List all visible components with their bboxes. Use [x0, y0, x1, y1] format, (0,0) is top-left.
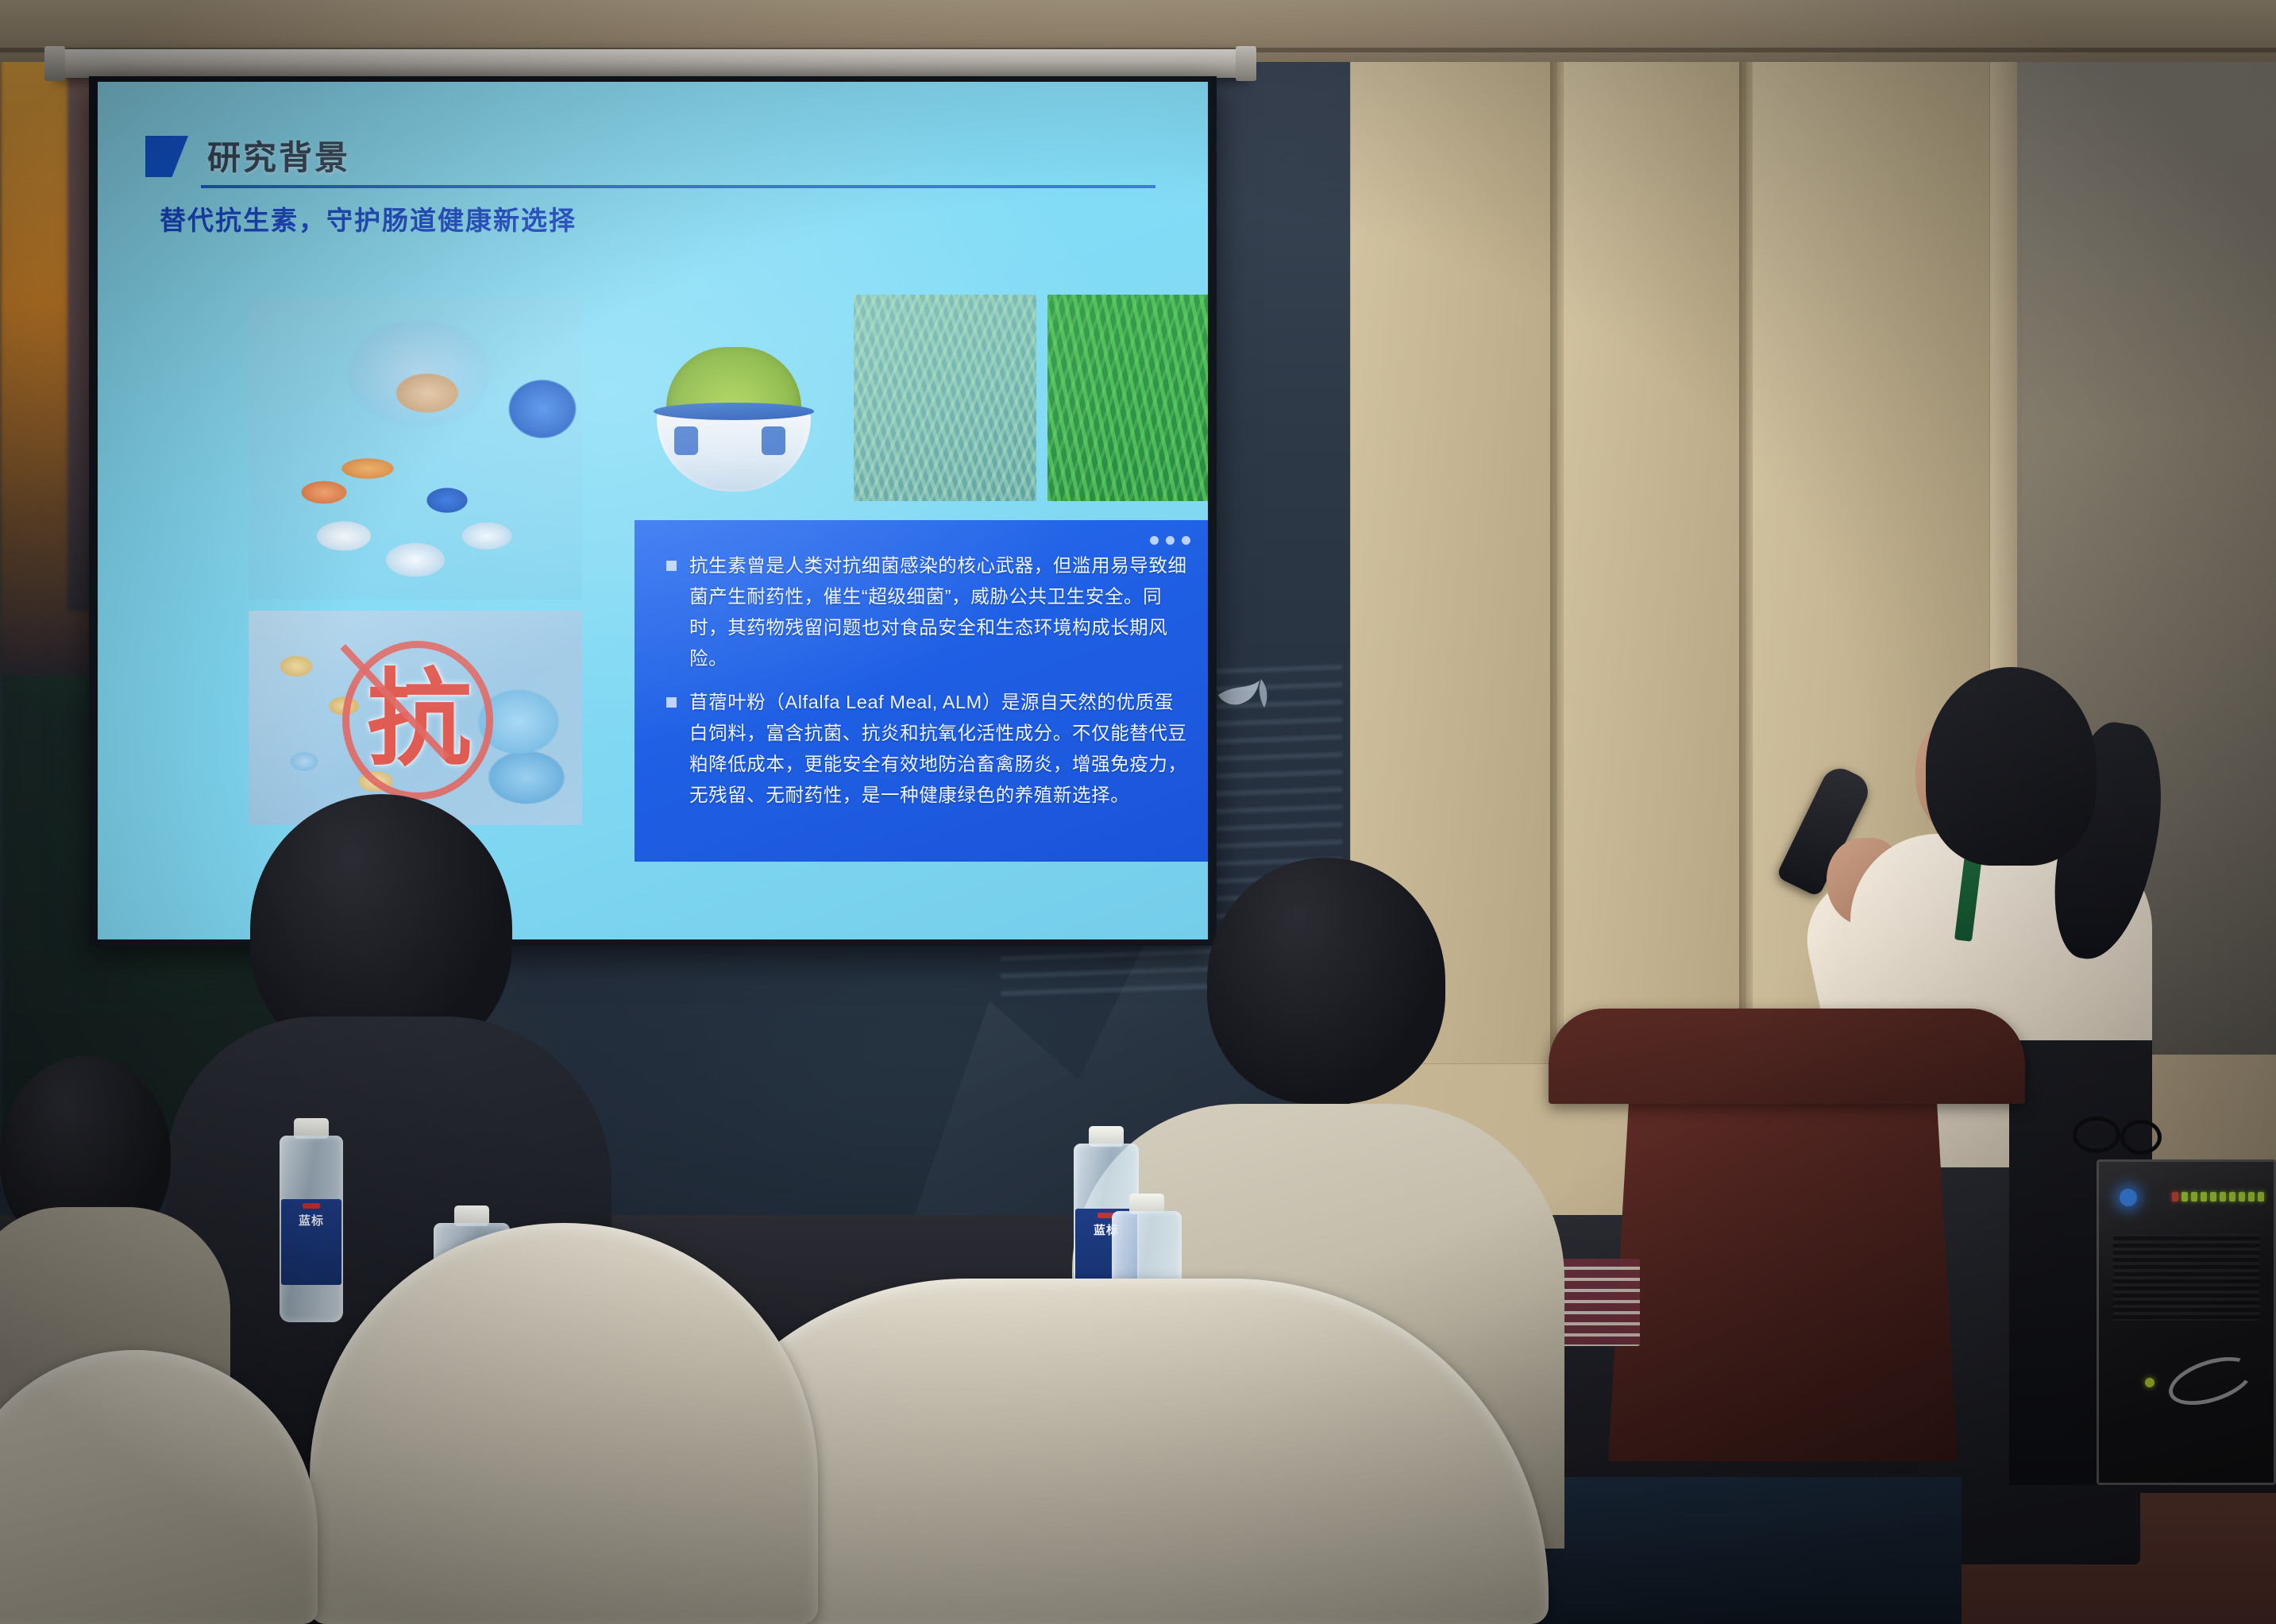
bottle-label: 蓝标 [281, 1199, 341, 1285]
podium-top [1549, 1009, 2025, 1104]
title-underline [201, 185, 1155, 188]
audio-amplifier-rack[interactable] [2097, 1159, 2276, 1485]
dark-table [1533, 1477, 1962, 1624]
power-led-icon [2120, 1189, 2137, 1206]
stone-panel-2 [1563, 56, 1746, 1064]
water-bottle: 蓝标 [280, 1136, 343, 1322]
speaker-hair [1926, 667, 2097, 866]
bullet-item: 抗生素曾是人类对抗细菌感染的核心武器，但滥用易导致细菌产生耐药性，催生“超级细菌… [666, 550, 1187, 674]
amp-vent-grill [2113, 1233, 2259, 1321]
bullet-square-icon [666, 561, 677, 571]
decorative-dots-icon [1150, 536, 1190, 545]
slide-textbox: 抗生素曾是人类对抗细菌感染的核心武器，但滥用易导致细菌产生耐药性，催生“超级细菌… [635, 520, 1208, 862]
amp-brand-logo-icon [2163, 1348, 2259, 1414]
podium [1549, 1009, 2025, 1453]
cable-loop-1 [2073, 1117, 2120, 1153]
bottle-body: 蓝标 [280, 1136, 343, 1322]
slide-subtitle: 替代抗生素，守护肠道健康新选择 [160, 199, 577, 237]
bowl-rim [654, 403, 814, 420]
bowl-decoration-right [762, 426, 785, 455]
slide-header: 研究背景 [145, 123, 1160, 196]
roller-end-left [44, 46, 65, 81]
audience-head [1207, 858, 1445, 1104]
projector-screen-roller [56, 49, 1247, 78]
bullet-item: 苜蓿叶粉（Alfalfa Leaf Meal, ALM）是源自天然的优质蛋白饲料… [666, 687, 1187, 811]
image-no-antibiotics-sign: 抗 [249, 611, 582, 825]
stone-groove-1 [1550, 56, 1563, 1064]
conference-presentation-photo: 研究背景 替代抗生素，守护肠道健康新选择 抗 [0, 0, 2276, 1624]
bullet-text: 苜蓿叶粉（Alfalfa Leaf Meal, ALM）是源自天然的优质蛋白饲料… [689, 687, 1187, 811]
bullet-text: 抗生素曾是人类对抗细菌感染的核心武器，但滥用易导致细菌产生耐药性，催生“超级细菌… [689, 550, 1187, 674]
title-marker-icon [145, 136, 188, 177]
bullet-square-icon [666, 697, 677, 708]
amp-status-led-icon [2145, 1378, 2154, 1387]
image-alfalfa-field-1 [854, 295, 1036, 501]
slide: 研究背景 替代抗生素，守护肠道健康新选择 抗 [98, 82, 1208, 939]
vu-meter-icon [2172, 1192, 2264, 1202]
bottle-label-mark [303, 1203, 320, 1209]
projector-screen: 研究背景 替代抗生素，守护肠道健康新选择 抗 [98, 82, 1208, 939]
image-pills-spilling-from-bottle [249, 298, 582, 600]
image-alfalfa-field-2 [1047, 295, 1208, 501]
podium-column [1608, 1096, 1958, 1461]
roller-end-right [1236, 46, 1256, 81]
image-bowl-of-alfalfa-powder [635, 325, 831, 501]
stone-groove-2 [1739, 56, 1752, 1064]
seagull-icon [1215, 663, 1310, 720]
cable-loop-2 [2120, 1120, 2162, 1155]
bowl-decoration-left [674, 426, 698, 455]
slide-title: 研究背景 [207, 131, 350, 179]
